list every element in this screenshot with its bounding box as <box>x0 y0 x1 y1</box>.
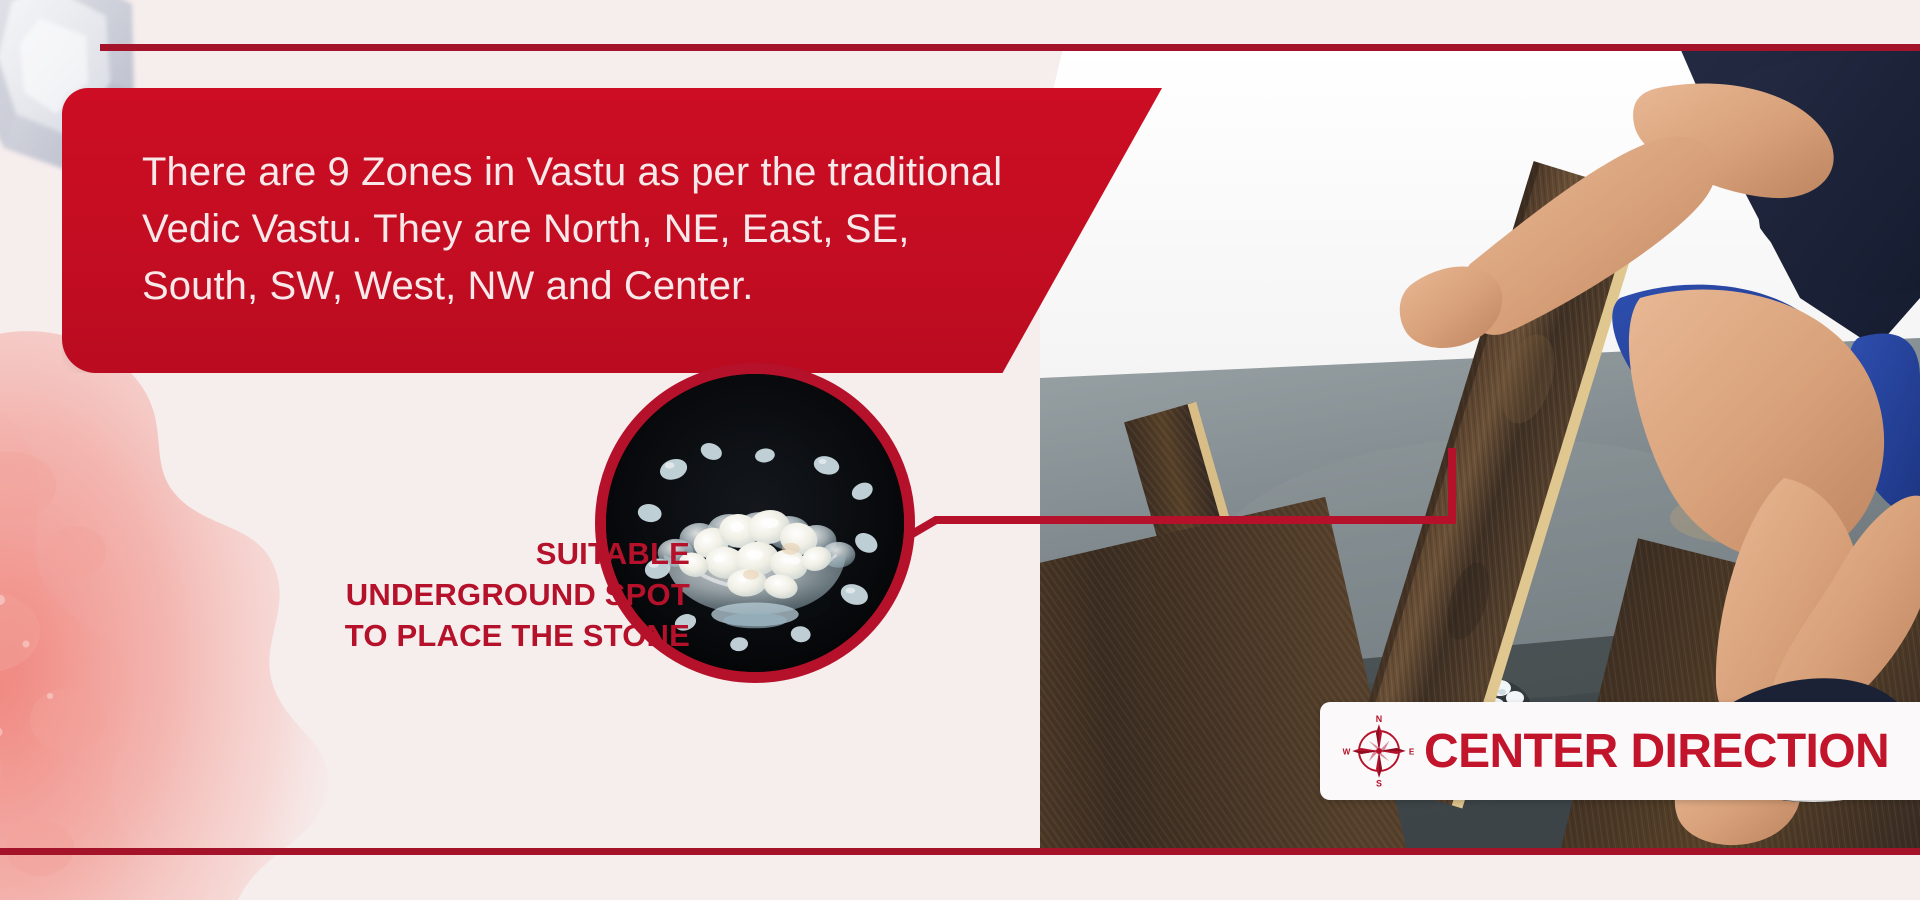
caption-block: SUITABLE UNDERGROUND SPOT TO PLACE THE S… <box>120 533 690 657</box>
caption-line-1: SUITABLE <box>120 533 690 574</box>
top-divider-rule <box>100 44 1920 51</box>
vastu-zones-banner: There are 9 Zones in Vastu as per the tr… <box>62 88 1162 373</box>
compass-south-label: S <box>1376 779 1382 788</box>
compass-east-label: E <box>1409 748 1415 757</box>
vastu-zones-text: There are 9 Zones in Vastu as per the tr… <box>142 144 1022 314</box>
bottom-divider-rule <box>0 848 1920 855</box>
center-direction-label: CENTER DIRECTION <box>1424 724 1889 779</box>
compass-west-label: W <box>1343 748 1351 757</box>
caption-line-3: TO PLACE THE STONE <box>120 615 690 656</box>
center-direction-badge: N E S W CENTER DIRECTION <box>1320 702 1920 800</box>
caption-line-2: UNDERGROUND SPOT <box>120 574 690 615</box>
compass-north-label: N <box>1376 714 1382 724</box>
infographic-canvas: There are 9 Zones in Vastu as per the tr… <box>0 0 1920 900</box>
compass-rose-icon: N E S W <box>1342 714 1416 788</box>
